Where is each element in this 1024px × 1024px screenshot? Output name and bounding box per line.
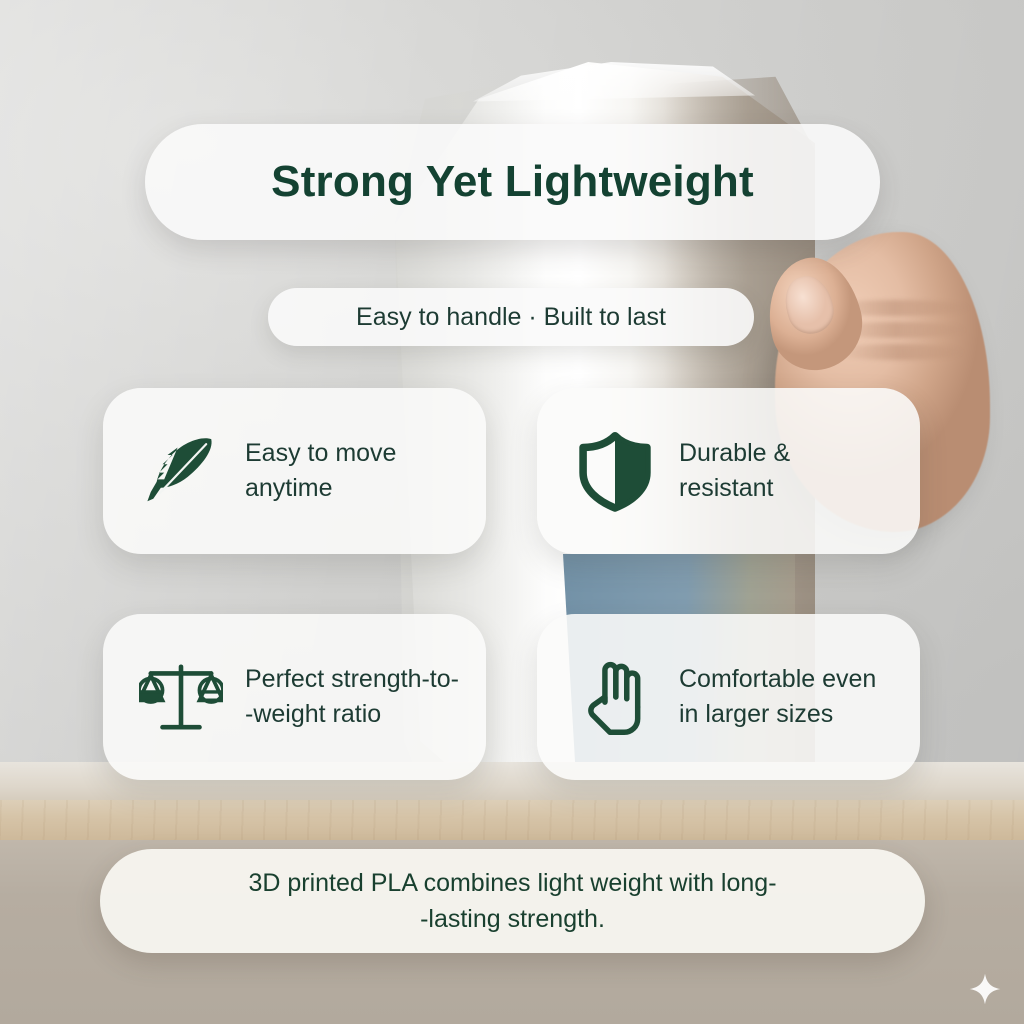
footer-caption-pill: 3D printed PLA combines light weight wit…	[100, 849, 925, 953]
balance-scale-icon	[139, 655, 223, 739]
page-title: Strong Yet Lightweight	[271, 157, 754, 207]
feature-card-label: Comfortable even in larger sizes	[679, 662, 876, 733]
subtitle-pill: Easy to handle · Built to last	[268, 288, 754, 346]
feature-card-strength-to-weight: Perfect strength-to- -weight ratio	[103, 614, 486, 780]
title-pill: Strong Yet Lightweight	[145, 124, 880, 240]
sparkle-icon	[968, 972, 1002, 1006]
shield-icon	[573, 429, 657, 513]
footer-caption: 3D printed PLA combines light weight wit…	[248, 865, 776, 938]
page-subtitle: Easy to handle · Built to last	[356, 303, 666, 332]
feature-card-comfortable: Comfortable even in larger sizes	[537, 614, 920, 780]
overlay-content: Strong Yet Lightweight Easy to handle · …	[0, 0, 1024, 1024]
feature-card-label: Easy to move anytime	[245, 436, 396, 507]
feature-card-easy-to-move: Easy to move anytime	[103, 388, 486, 554]
feature-card-label: Perfect strength-to- -weight ratio	[245, 662, 459, 733]
feature-card-label: Durable & resistant	[679, 436, 790, 507]
feather-icon	[139, 429, 223, 513]
open-hand-icon	[573, 655, 657, 739]
feature-card-durable: Durable & resistant	[537, 388, 920, 554]
product-feature-poster: Strong Yet Lightweight Easy to handle · …	[0, 0, 1024, 1024]
